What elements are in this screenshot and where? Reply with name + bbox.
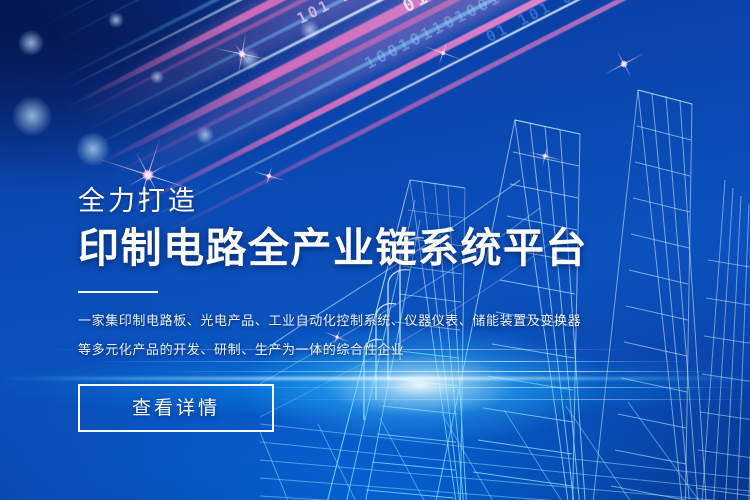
bokeh-dot — [12, 96, 52, 136]
hero-banner: 10 01 1001 101100 01 01 101 0110 1001 0 … — [0, 0, 750, 500]
binary-row: 01 101 0110 1001 0 11 — [484, 0, 716, 45]
hero-eyebrow: 全力打造 — [78, 186, 638, 217]
hero-headline: 印制电路全产业链系统平台 — [78, 226, 638, 272]
hero-subtitle-line-1: 一家集印制电路板、光电产品、工业自动化控制系统、仪器仪表、储能装置及变换器 — [78, 308, 638, 335]
hero-divider — [78, 291, 158, 293]
hero-content: 全力打造 印制电路全产业链系统平台 一家集印制电路板、光电产品、工业自动化控制系… — [78, 186, 638, 432]
view-details-button[interactable]: 查看详情 — [78, 384, 274, 432]
hero-subtitle-line-2: 等多元化产品的开发、研制、生产为一体的综合性企业 — [78, 337, 638, 364]
